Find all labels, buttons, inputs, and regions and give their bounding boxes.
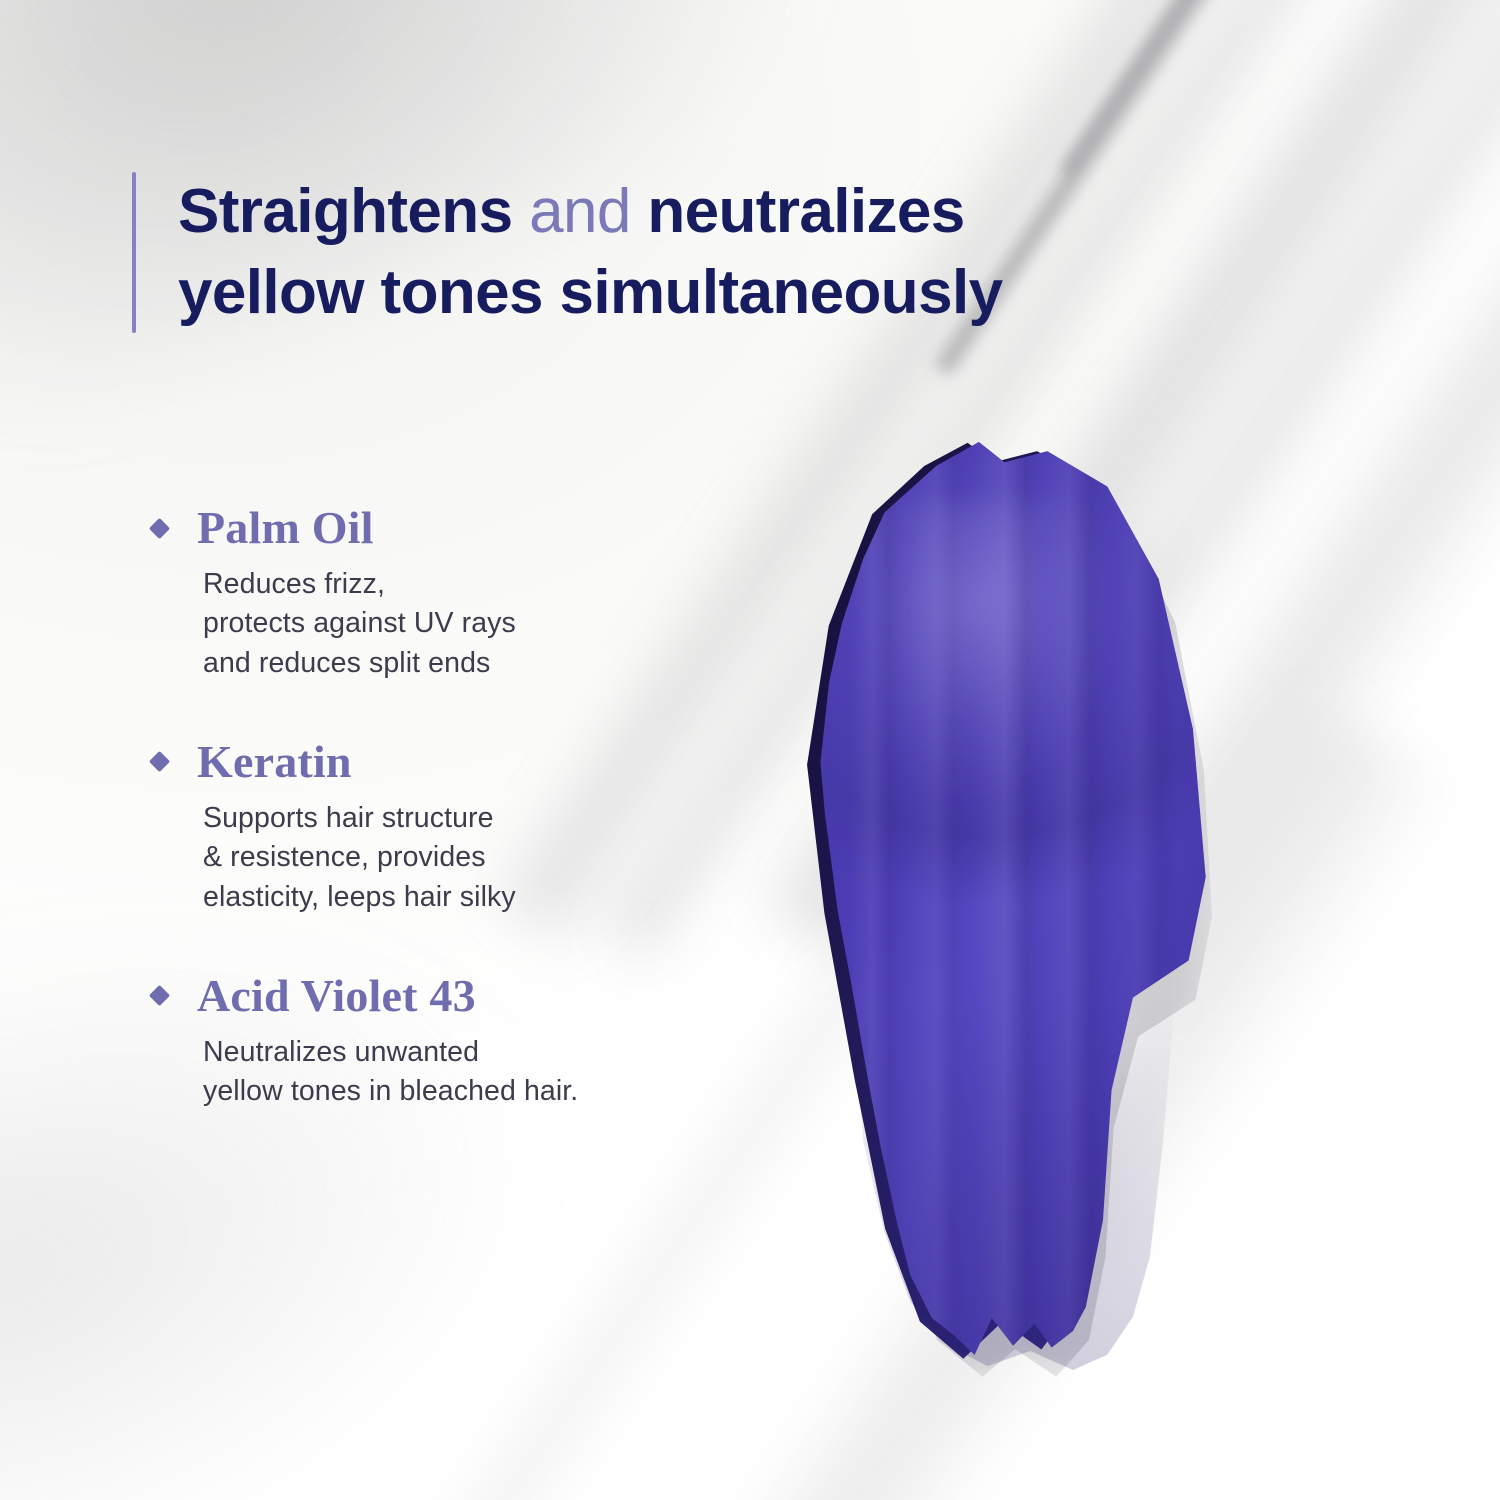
ingredient-name: Keratin: [197, 739, 352, 785]
ingredient-list: Palm Oil Reduces frizz, protects against…: [152, 505, 712, 1112]
diamond-icon: [149, 985, 170, 1006]
list-item: Acid Violet 43 Neutralizes unwanted yell…: [152, 973, 712, 1112]
ingredient-description: Supports hair structure & resistence, pr…: [203, 799, 712, 917]
ingredient-description: Neutralizes unwanted yellow tones in ble…: [203, 1033, 712, 1112]
diamond-icon: [149, 517, 170, 538]
ingredient-name: Acid Violet 43: [197, 973, 476, 1019]
diamond-icon: [149, 751, 170, 772]
violet-paint-swatch: [760, 430, 1240, 1390]
product-benefit-infographic: Straightens and neutralizes yellow tones…: [0, 0, 1500, 1500]
list-item: Palm Oil Reduces frizz, protects against…: [152, 505, 712, 683]
headline-block: Straightens and neutralizes yellow tones…: [132, 172, 1002, 333]
ingredient-heading: Palm Oil: [152, 505, 712, 551]
ingredient-description: Reduces frizz, protects against UV rays …: [203, 565, 712, 683]
ingredient-name: Palm Oil: [197, 505, 374, 551]
headline-text-strong-b: neutralizes: [631, 177, 965, 246]
headline-text-soft: and: [529, 177, 631, 246]
ingredient-heading: Keratin: [152, 739, 712, 785]
page-title: Straightens and neutralizes yellow tones…: [178, 172, 1002, 333]
accent-bar: [132, 172, 136, 333]
ingredient-heading: Acid Violet 43: [152, 973, 712, 1019]
list-item: Keratin Supports hair structure & resist…: [152, 739, 712, 917]
headline-text-strong-a: Straightens: [178, 177, 529, 246]
headline-line-2: yellow tones simultaneously: [178, 253, 1002, 334]
headline-line-1: Straightens and neutralizes: [178, 172, 1002, 253]
